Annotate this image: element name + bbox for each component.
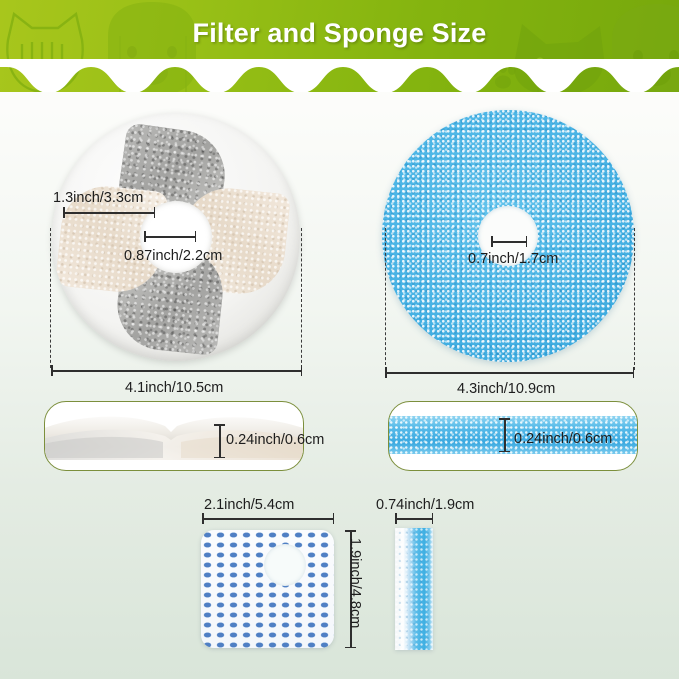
filter-diameter-measure-line: [51, 370, 302, 372]
filter-hole-measure-line: [144, 236, 196, 238]
header-wave-edge: [0, 59, 679, 92]
square-pad-width-dimension-label: 2.1inch/5.4cm: [204, 497, 294, 513]
square-filter-pad-image: [201, 530, 334, 648]
sponge-thickness-dimension-label: 0.24inch/0.6cm: [514, 431, 612, 447]
sponge-strip-texture: [395, 528, 433, 650]
sponge-diameter-dimension-label: 4.3inch/10.9cm: [457, 381, 555, 397]
filter-diameter-dimension-label: 4.1inch/10.5cm: [125, 380, 223, 396]
sponge-hole-dimension-label: 0.7inch/1.7cm: [468, 251, 558, 267]
sponge-guide-right: [634, 228, 635, 370]
sponge-thickness-measure-line: [504, 418, 506, 452]
sponge-hole-measure-line: [491, 241, 527, 243]
filter-guide-right: [301, 228, 302, 368]
filter-ring-measure-line: [63, 212, 155, 214]
sponge-guide-left: [385, 228, 386, 370]
strip-width-dimension-label: 0.74inch/1.9cm: [376, 497, 474, 513]
strip-width-measure-line: [395, 518, 433, 520]
sponge-disc-image: [382, 110, 634, 362]
filter-ring-dimension-label: 1.3inch/3.3cm: [53, 190, 143, 206]
filter-guide-left: [50, 228, 51, 368]
square-pad-hole: [264, 544, 306, 586]
square-pad-width-measure-line: [202, 518, 334, 520]
header-banner: Filter and Sponge Size: [0, 0, 679, 92]
sponge-strip-image: [395, 528, 433, 650]
filter-thickness-measure-line: [219, 424, 221, 458]
filter-thickness-dimension-label: 0.24inch/0.6cm: [226, 432, 324, 448]
square-pad-height-dimension-label: 1.9inch/4.8cm: [347, 538, 363, 628]
filter-hole-dimension-label: 0.87inch/2.2cm: [124, 248, 222, 264]
page-title: Filter and Sponge Size: [0, 18, 679, 49]
sponge-diameter-measure-line: [385, 372, 634, 374]
